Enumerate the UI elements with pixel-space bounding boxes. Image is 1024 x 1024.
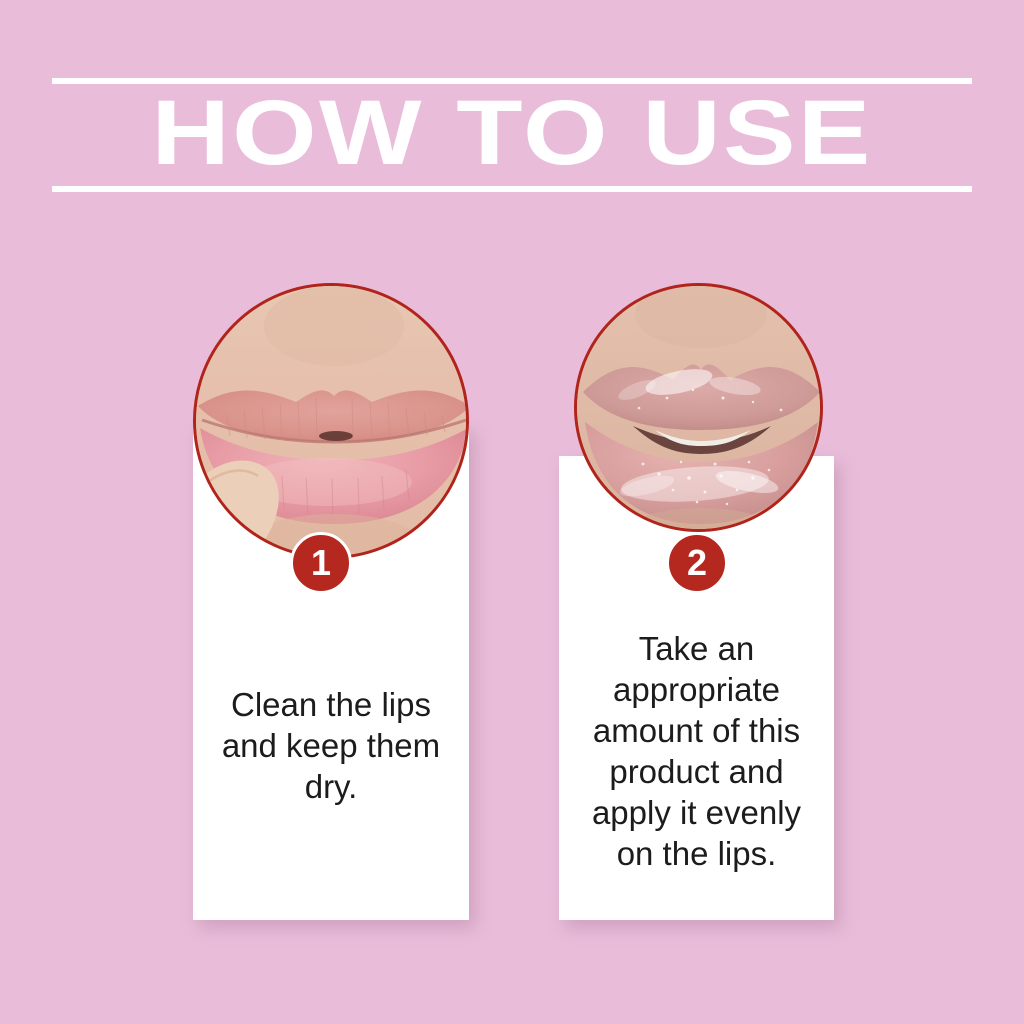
how-to-use-poster: HOW TO USE Clean the lips and keep them … — [0, 0, 1024, 1024]
step-2-badge: 2 — [666, 532, 728, 594]
glossy-lips-photo — [577, 286, 820, 529]
title-rule-bottom — [52, 186, 972, 192]
step-1-text: Clean the lips and keep them dry. — [207, 684, 455, 807]
glossy-lips-illustration — [577, 286, 820, 529]
dry-natural-lips-photo — [196, 286, 466, 556]
page-title: HOW TO USE — [0, 84, 1024, 182]
step-1-image — [193, 283, 469, 559]
step-2-image — [574, 283, 823, 532]
dry-lips-illustration — [196, 286, 466, 556]
header: HOW TO USE — [52, 70, 972, 200]
step-1-badge: 1 — [290, 532, 352, 594]
step-2-text: Take an appropriate amount of this produ… — [573, 628, 820, 874]
